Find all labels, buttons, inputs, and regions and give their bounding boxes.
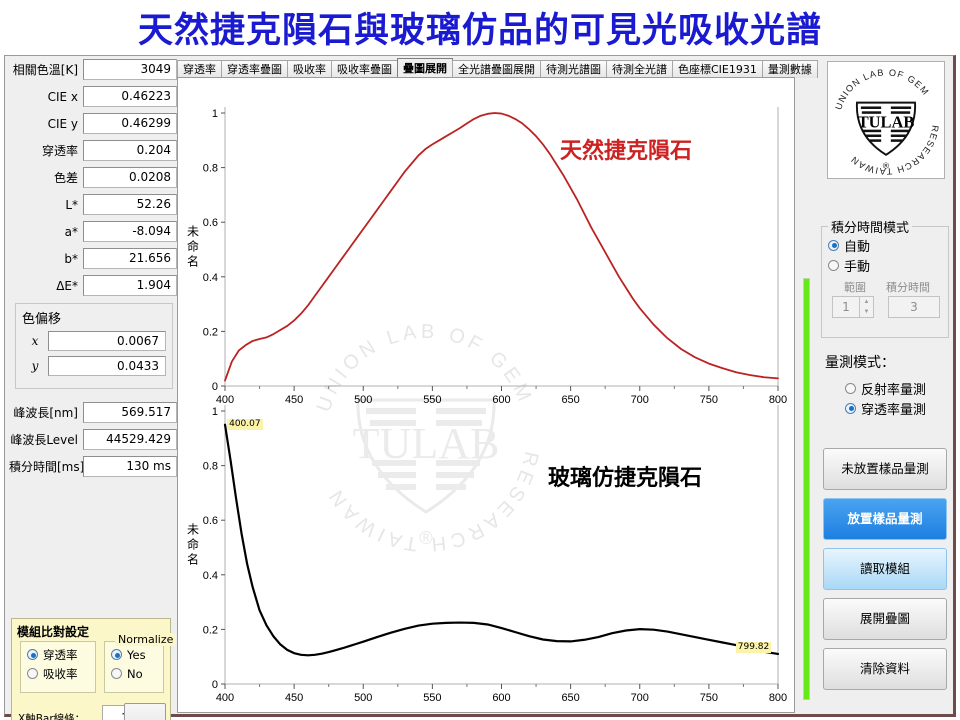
integration-input-labels: 範圍 積分時間 bbox=[832, 279, 948, 295]
measure-mode-transmittance[interactable]: 穿透率量測 bbox=[845, 398, 926, 418]
svg-text:1: 1 bbox=[212, 108, 218, 120]
svg-text:550: 550 bbox=[423, 692, 441, 704]
tab-bar: 穿透率穿透率疊圖吸收率吸收率疊圖疊圖展開全光譜疊圖展開待測光譜圖待測全光譜色座標… bbox=[177, 58, 795, 78]
normalize-legend: Normalize bbox=[115, 633, 176, 646]
svg-text:550: 550 bbox=[423, 394, 441, 406]
measurement-label: a* bbox=[9, 225, 83, 239]
stepper-down-icon[interactable]: ▼ bbox=[860, 307, 873, 317]
data-tooltip-start: 400.07 bbox=[227, 419, 263, 430]
measurement-field-list: 相關色溫[K]3049CIE x0.46223CIE y0.46299穿透率0.… bbox=[9, 58, 177, 297]
measurement-label: CIE x bbox=[9, 90, 83, 104]
confirm-button[interactable]: 確認 bbox=[124, 703, 166, 720]
natural-moldavite-curve-label: 天然捷克隕石 bbox=[560, 133, 692, 165]
peak-label: 峰波長[nm] bbox=[9, 404, 83, 421]
svg-text:450: 450 bbox=[285, 692, 303, 704]
measurement-value[interactable]: 0.46299 bbox=[83, 113, 177, 134]
measurement-row: 色差0.0208 bbox=[9, 166, 177, 189]
measurement-row: 相關色溫[K]3049 bbox=[9, 58, 177, 81]
action-button-1[interactable]: 放置樣品量測 bbox=[823, 498, 947, 540]
integration-time-label: 積分時間 bbox=[878, 279, 938, 295]
color-shift-y-value[interactable]: 0.0433 bbox=[48, 356, 166, 376]
tab-4[interactable]: 疊圖展開 bbox=[397, 58, 453, 78]
svg-text:650: 650 bbox=[561, 692, 579, 704]
action-button-4[interactable]: 清除資料 bbox=[823, 648, 947, 690]
svg-text:0.8: 0.8 bbox=[203, 461, 218, 473]
measurement-label: 穿透率 bbox=[9, 142, 83, 159]
tulab-logo-icon: UNION LAB OF GEM RESEARCH TAIWAN TULAB bbox=[828, 62, 944, 178]
measurement-label: CIE y bbox=[9, 117, 83, 131]
module-option-transmittance[interactable]: 穿透率 bbox=[27, 645, 89, 664]
svg-text:600: 600 bbox=[492, 394, 510, 406]
action-button-0[interactable]: 未放置樣品量測 bbox=[823, 448, 947, 490]
peak-value[interactable]: 44529.429 bbox=[83, 429, 177, 450]
radio-dot-icon bbox=[845, 383, 856, 394]
svg-text:0.6: 0.6 bbox=[203, 217, 218, 229]
measurement-row: ΔE*1.904 bbox=[9, 274, 177, 297]
normalize-yes-label: Yes bbox=[127, 648, 146, 662]
stepper-up-icon[interactable]: ▲ bbox=[860, 297, 873, 307]
svg-text:名: 名 bbox=[187, 254, 199, 269]
measurement-value[interactable]: 1.904 bbox=[83, 275, 177, 296]
action-button-2[interactable]: 讀取模組 bbox=[823, 548, 947, 590]
measurement-label: 色差 bbox=[9, 169, 83, 186]
peak-row: 峰波長Level44529.429 bbox=[9, 428, 177, 451]
measurement-label: L* bbox=[9, 198, 83, 212]
svg-text:800: 800 bbox=[769, 394, 787, 406]
svg-text:650: 650 bbox=[561, 394, 579, 406]
measure-mode-transmittance-label: 穿透率量測 bbox=[861, 399, 926, 418]
module-option-absorbance[interactable]: 吸收率 bbox=[27, 664, 89, 683]
radio-dot-icon bbox=[828, 240, 839, 251]
measurement-value[interactable]: 21.656 bbox=[83, 248, 177, 269]
svg-text:UNION LAB OF GEM: UNION LAB OF GEM bbox=[833, 67, 931, 111]
measure-mode-radio-group: 反射率量測 穿透率量測 bbox=[839, 378, 926, 418]
spectrum-plots: 00.20.40.60.8140045050055060065070075080… bbox=[178, 78, 796, 714]
application-window: 相關色溫[K]3049CIE x0.46223CIE y0.46299穿透率0.… bbox=[4, 55, 956, 717]
color-shift-group: 色偏移 x 0.0067 y 0.0433 bbox=[15, 303, 173, 389]
svg-text:750: 750 bbox=[700, 394, 718, 406]
svg-text:0.4: 0.4 bbox=[203, 272, 218, 284]
radio-dot-icon bbox=[828, 260, 839, 271]
measurement-value[interactable]: 3049 bbox=[83, 59, 177, 80]
radio-dot-icon bbox=[27, 668, 38, 679]
peak-label: 峰波長Level bbox=[9, 431, 83, 448]
integration-time-mode-group: 積分時間模式 自動 手動 範圍 積分時間 1 ▲ ▼ bbox=[821, 226, 949, 338]
svg-text:命: 命 bbox=[187, 537, 199, 552]
glass-imitation-curve-label: 玻璃仿捷克隕石 bbox=[548, 460, 702, 492]
color-shift-y-label: y bbox=[22, 359, 48, 373]
color-shift-title: 色偏移 bbox=[22, 308, 166, 327]
color-shift-x-label: x bbox=[22, 334, 48, 348]
measurement-value[interactable]: 0.0208 bbox=[83, 167, 177, 188]
module-option-transmittance-label: 穿透率 bbox=[43, 647, 78, 663]
range-stepper[interactable]: ▲ ▼ bbox=[860, 296, 874, 318]
integration-mode-auto[interactable]: 自動 bbox=[828, 235, 948, 255]
measurement-value[interactable]: -8.094 bbox=[83, 221, 177, 242]
normalize-option-yes[interactable]: Yes bbox=[111, 645, 157, 664]
tab-6[interactable]: 待測光譜圖 bbox=[540, 60, 607, 78]
svg-text:0: 0 bbox=[212, 679, 218, 691]
measurement-value[interactable]: 52.26 bbox=[83, 194, 177, 215]
svg-text:TULAB: TULAB bbox=[858, 113, 915, 132]
action-button-3[interactable]: 展開疊圖 bbox=[823, 598, 947, 640]
tab-5[interactable]: 全光譜疊圖展開 bbox=[452, 60, 541, 78]
measurement-label: 相關色溫[K] bbox=[9, 61, 83, 78]
peak-value[interactable]: 569.517 bbox=[83, 402, 177, 423]
measurement-row: a*-8.094 bbox=[9, 220, 177, 243]
svg-text:0.4: 0.4 bbox=[203, 570, 218, 582]
svg-text:500: 500 bbox=[354, 394, 372, 406]
module-option-absorbance-label: 吸收率 bbox=[43, 666, 78, 682]
svg-text:500: 500 bbox=[354, 692, 372, 704]
svg-text:0.2: 0.2 bbox=[203, 624, 218, 636]
measurement-value[interactable]: 0.46223 bbox=[83, 86, 177, 107]
module-compare-settings-panel: 模組比對設定 穿透率 吸收率 Normalize Yes bbox=[11, 618, 171, 720]
transmittance-absorbance-radio-group: 穿透率 吸收率 bbox=[20, 641, 96, 693]
normalize-no-label: No bbox=[127, 667, 143, 681]
svg-text:600: 600 bbox=[492, 692, 510, 704]
range-label: 範圍 bbox=[832, 279, 878, 295]
tab-0[interactable]: 穿透率 bbox=[177, 60, 222, 78]
color-shift-x-row: x 0.0067 bbox=[22, 330, 166, 352]
measurement-row: CIE x0.46223 bbox=[9, 85, 177, 108]
tab-3[interactable]: 吸收率疊圖 bbox=[331, 60, 398, 78]
measurement-value[interactable]: 0.204 bbox=[83, 140, 177, 161]
svg-text:命: 命 bbox=[187, 239, 199, 254]
measurement-label: b* bbox=[9, 252, 83, 266]
measure-mode-reflectance-label: 反射率量測 bbox=[861, 379, 926, 398]
radio-dot-icon bbox=[111, 668, 122, 679]
color-shift-y-row: y 0.0433 bbox=[22, 355, 166, 377]
svg-text:1: 1 bbox=[212, 406, 218, 418]
data-tooltip-end: 799.82 bbox=[736, 642, 772, 653]
measurement-row: L*52.26 bbox=[9, 193, 177, 216]
left-measurement-panel: 相關色溫[K]3049CIE x0.46223CIE y0.46299穿透率0.… bbox=[9, 58, 177, 713]
svg-text:未: 未 bbox=[187, 523, 199, 537]
normalize-radio-group: Normalize Yes No bbox=[104, 641, 164, 693]
range-input[interactable]: 1 bbox=[832, 296, 860, 318]
svg-text:未: 未 bbox=[187, 225, 199, 239]
integration-time-input[interactable]: 3 bbox=[888, 296, 940, 318]
svg-text:®: ® bbox=[883, 160, 890, 170]
radio-dot-icon bbox=[111, 649, 122, 660]
color-shift-x-value[interactable]: 0.0067 bbox=[48, 331, 166, 351]
svg-text:0.6: 0.6 bbox=[203, 515, 218, 527]
tab-9[interactable]: 量測數據 bbox=[762, 60, 818, 78]
measurement-row: CIE y0.46299 bbox=[9, 112, 177, 135]
tab-2[interactable]: 吸收率 bbox=[287, 60, 332, 78]
peak-row: 峰波長[nm]569.517 bbox=[9, 401, 177, 424]
svg-text:400: 400 bbox=[216, 394, 234, 406]
integration-mode-auto-label: 自動 bbox=[844, 236, 870, 255]
peak-value[interactable]: 130 ms bbox=[83, 456, 177, 477]
svg-text:0: 0 bbox=[212, 381, 218, 393]
svg-text:0.8: 0.8 bbox=[203, 163, 218, 175]
chart-display-area[interactable]: UNION LAB OF GEM RESEARCH TAIWAN TULAB ® bbox=[177, 77, 795, 713]
svg-text:名: 名 bbox=[187, 552, 199, 567]
radio-dot-icon bbox=[845, 403, 856, 414]
integration-mode-manual-label: 手動 bbox=[844, 256, 870, 275]
peak-row: 積分時間[ms]130 ms bbox=[9, 455, 177, 478]
svg-text:800: 800 bbox=[769, 692, 787, 704]
svg-text:450: 450 bbox=[285, 394, 303, 406]
measurement-row: b*21.656 bbox=[9, 247, 177, 270]
normalize-option-no[interactable]: No bbox=[111, 664, 157, 683]
right-control-panel: UNION LAB OF GEM RESEARCH TAIWAN TULAB bbox=[817, 58, 953, 713]
xbar-line-label: X軸Bar線條： bbox=[18, 711, 102, 720]
svg-text:700: 700 bbox=[631, 692, 649, 704]
measurement-row: 穿透率0.204 bbox=[9, 139, 177, 162]
tab-7[interactable]: 待測全光譜 bbox=[606, 60, 673, 78]
integration-time-mode-legend: 積分時間模式 bbox=[828, 217, 912, 236]
svg-text:400: 400 bbox=[216, 692, 234, 704]
svg-text:0.2: 0.2 bbox=[203, 326, 218, 338]
integration-input-row: 1 ▲ ▼ 3 bbox=[832, 296, 948, 318]
page-title: 天然捷克隕石與玻璃仿品的可見光吸收光譜 bbox=[0, 2, 960, 53]
svg-text:700: 700 bbox=[631, 394, 649, 406]
radio-dot-icon bbox=[27, 649, 38, 660]
tab-1[interactable]: 穿透率疊圖 bbox=[221, 60, 288, 78]
measurement-label: ΔE* bbox=[9, 279, 83, 293]
tab-8[interactable]: 色座標CIE1931 bbox=[672, 60, 763, 78]
tulab-logo: UNION LAB OF GEM RESEARCH TAIWAN TULAB bbox=[827, 61, 945, 179]
peak-field-list: 峰波長[nm]569.517峰波長Level44529.429積分時間[ms]1… bbox=[9, 401, 177, 478]
integration-mode-manual[interactable]: 手動 bbox=[828, 255, 948, 275]
measure-mode-title: 量測模式： bbox=[825, 352, 895, 372]
measurement-progress-bar bbox=[803, 278, 810, 700]
svg-text:750: 750 bbox=[700, 692, 718, 704]
measure-mode-reflectance[interactable]: 反射率量測 bbox=[845, 378, 926, 398]
peak-label: 積分時間[ms] bbox=[9, 458, 83, 475]
